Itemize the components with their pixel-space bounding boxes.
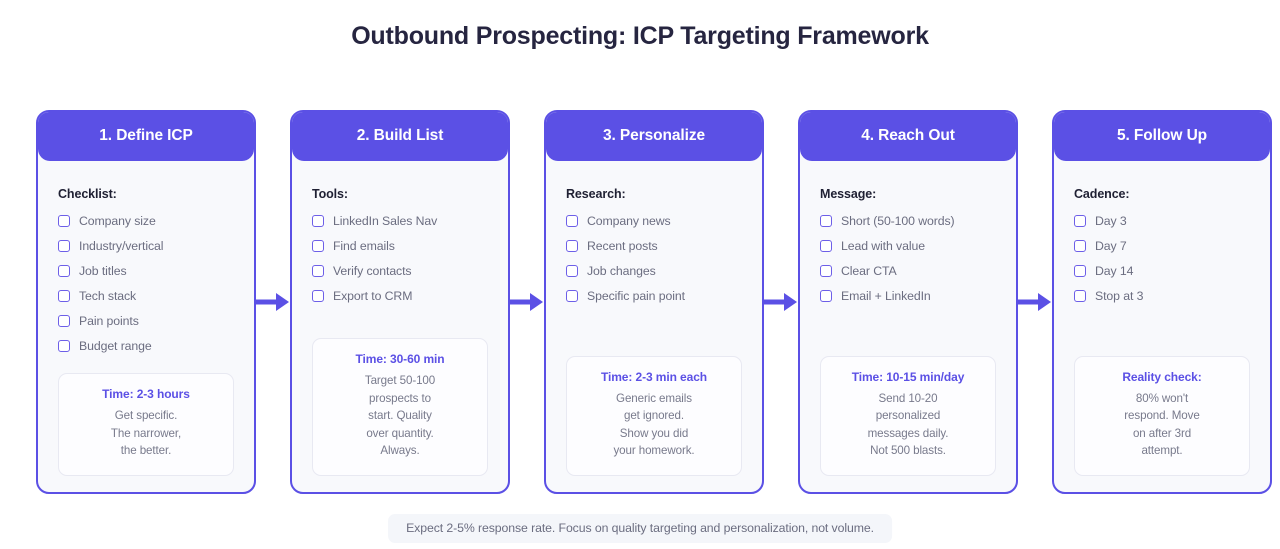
- checklist-item[interactable]: Specific pain point: [566, 289, 742, 303]
- checklist-item[interactable]: Verify contacts: [312, 264, 488, 278]
- checkbox-unchecked-icon[interactable]: [1074, 215, 1086, 227]
- checkbox-unchecked-icon[interactable]: [566, 290, 578, 302]
- checkbox-unchecked-icon[interactable]: [58, 265, 70, 277]
- step-note-line: Not 500 blasts.: [831, 442, 985, 460]
- checklist-item-label: Tech stack: [79, 289, 136, 303]
- checklist: Day 3Day 7Day 14Stop at 3: [1074, 214, 1250, 303]
- checklist-item[interactable]: Company size: [58, 214, 234, 228]
- checklist-item[interactable]: Find emails: [312, 239, 488, 253]
- flow-arrow-4: [1018, 110, 1052, 494]
- checkbox-unchecked-icon[interactable]: [58, 315, 70, 327]
- checklist-item[interactable]: Short (50-100 words): [820, 214, 996, 228]
- checklist: LinkedIn Sales NavFind emailsVerify cont…: [312, 214, 488, 303]
- section-label: Research:: [566, 187, 742, 201]
- checklist-item-label: Pain points: [79, 314, 139, 328]
- step-card-body: Tools:LinkedIn Sales NavFind emailsVerif…: [292, 161, 508, 492]
- checkbox-unchecked-icon[interactable]: [58, 340, 70, 352]
- step-note-line: 80% won't: [1085, 390, 1239, 408]
- step-card-5[interactable]: 5. Follow UpCadence:Day 3Day 7Day 14Stop…: [1052, 110, 1272, 494]
- checkbox-unchecked-icon[interactable]: [566, 215, 578, 227]
- step-note-line: Get specific.: [69, 407, 223, 425]
- section-label: Checklist:: [58, 187, 234, 201]
- checklist-item[interactable]: Job titles: [58, 264, 234, 278]
- step-card-3[interactable]: 3. PersonalizeResearch:Company newsRecen…: [544, 110, 764, 494]
- step-note-line: messages daily.: [831, 425, 985, 443]
- checkbox-unchecked-icon[interactable]: [566, 265, 578, 277]
- checkbox-unchecked-icon[interactable]: [1074, 290, 1086, 302]
- checkbox-unchecked-icon[interactable]: [566, 240, 578, 252]
- checklist-item-label: Short (50-100 words): [841, 214, 955, 228]
- step-card-header: 2. Build List: [292, 112, 508, 161]
- checklist-item-label: Day 3: [1095, 214, 1127, 228]
- checklist-item-label: Day 14: [1095, 264, 1133, 278]
- flow-arrow-3: [764, 110, 798, 494]
- footer-note: Expect 2-5% response rate. Focus on qual…: [388, 514, 892, 543]
- step-note-line: respond. Move: [1085, 407, 1239, 425]
- checkbox-unchecked-icon[interactable]: [1074, 240, 1086, 252]
- step-note-line: get ignored.: [577, 407, 731, 425]
- flow-arrow-2: [510, 110, 544, 494]
- checkbox-unchecked-icon[interactable]: [312, 215, 324, 227]
- step-note-line: the better.: [69, 442, 223, 460]
- step-note-title: Reality check:: [1085, 370, 1239, 384]
- step-note-body: Send 10-20personalizedmessages daily.Not…: [831, 390, 985, 460]
- checklist-item[interactable]: Day 7: [1074, 239, 1250, 253]
- checklist-item-label: Export to CRM: [333, 289, 412, 303]
- arrow-right-icon: [256, 291, 290, 313]
- checkbox-unchecked-icon[interactable]: [1074, 265, 1086, 277]
- step-card-body: Research:Company newsRecent postsJob cha…: [546, 161, 762, 492]
- checkbox-unchecked-icon[interactable]: [312, 265, 324, 277]
- checkbox-unchecked-icon[interactable]: [312, 290, 324, 302]
- step-card-header: 5. Follow Up: [1054, 112, 1270, 161]
- step-note-line: Target 50-100: [323, 372, 477, 390]
- checklist-item-label: Specific pain point: [587, 289, 685, 303]
- checkbox-unchecked-icon[interactable]: [58, 215, 70, 227]
- checkbox-unchecked-icon[interactable]: [820, 240, 832, 252]
- checklist-item[interactable]: Pain points: [58, 314, 234, 328]
- checklist-item[interactable]: Email + LinkedIn: [820, 289, 996, 303]
- step-card-header: 3. Personalize: [546, 112, 762, 161]
- checklist-item-label: Company size: [79, 214, 156, 228]
- step-card-header: 4. Reach Out: [800, 112, 1016, 161]
- step-note-body: Target 50-100prospects tostart. Qualityo…: [323, 372, 477, 460]
- checklist-item[interactable]: Company news: [566, 214, 742, 228]
- checklist-item[interactable]: Industry/vertical: [58, 239, 234, 253]
- step-note-box: Time: 2-3 hoursGet specific.The narrower…: [58, 373, 234, 476]
- checklist-item-label: Stop at 3: [1095, 289, 1143, 303]
- step-note-line: Generic emails: [577, 390, 731, 408]
- step-note-line: on after 3rd: [1085, 425, 1239, 443]
- checklist-item[interactable]: Stop at 3: [1074, 289, 1250, 303]
- step-card-header: 1. Define ICP: [38, 112, 254, 161]
- section-label: Tools:: [312, 187, 488, 201]
- arrow-right-icon: [764, 291, 798, 313]
- checkbox-unchecked-icon[interactable]: [820, 265, 832, 277]
- step-note-box: Time: 2-3 min eachGeneric emailsget igno…: [566, 356, 742, 476]
- checklist-item-label: Email + LinkedIn: [841, 289, 931, 303]
- step-note-box: Time: 30-60 minTarget 50-100prospects to…: [312, 338, 488, 476]
- step-note-body: Get specific.The narrower,the better.: [69, 407, 223, 460]
- step-note-line: start. Quality: [323, 407, 477, 425]
- checkbox-unchecked-icon[interactable]: [58, 240, 70, 252]
- step-note-line: Always.: [323, 442, 477, 460]
- step-card-body: Checklist:Company sizeIndustry/verticalJ…: [38, 161, 254, 492]
- step-note-line: Show you did: [577, 425, 731, 443]
- step-note-title: Time: 2-3 hours: [69, 387, 223, 401]
- checklist-item[interactable]: Job changes: [566, 264, 742, 278]
- step-note-box: Time: 10-15 min/daySend 10-20personalize…: [820, 356, 996, 476]
- checkbox-unchecked-icon[interactable]: [312, 240, 324, 252]
- checklist-item[interactable]: Export to CRM: [312, 289, 488, 303]
- step-note-title: Time: 10-15 min/day: [831, 370, 985, 384]
- checklist-item[interactable]: Recent posts: [566, 239, 742, 253]
- step-note-box: Reality check:80% won'trespond. Moveon a…: [1074, 356, 1250, 476]
- checklist-item[interactable]: Tech stack: [58, 289, 234, 303]
- checklist-item[interactable]: LinkedIn Sales Nav: [312, 214, 488, 228]
- checklist-item-label: Job titles: [79, 264, 127, 278]
- checkbox-unchecked-icon[interactable]: [58, 290, 70, 302]
- step-note-title: Time: 30-60 min: [323, 352, 477, 366]
- step-note-line: personalized: [831, 407, 985, 425]
- section-label: Cadence:: [1074, 187, 1250, 201]
- step-note-body: 80% won'trespond. Moveon after 3rdattemp…: [1085, 390, 1239, 460]
- checklist-item[interactable]: Lead with value: [820, 239, 996, 253]
- step-note-line: your homework.: [577, 442, 731, 460]
- checklist-item-label: LinkedIn Sales Nav: [333, 214, 437, 228]
- checklist-item-label: Find emails: [333, 239, 395, 253]
- checklist-item-label: Industry/vertical: [79, 239, 163, 253]
- section-label: Message:: [820, 187, 996, 201]
- step-note-line: over quantity.: [323, 425, 477, 443]
- checklist-item-label: Job changes: [587, 264, 656, 278]
- checklist-item[interactable]: Day 3: [1074, 214, 1250, 228]
- checklist-item-label: Lead with value: [841, 239, 925, 253]
- checklist-item-label: Day 7: [1095, 239, 1127, 253]
- step-card-1[interactable]: 1. Define ICPChecklist:Company sizeIndus…: [36, 110, 256, 494]
- checklist-item-label: Budget range: [79, 339, 152, 353]
- step-note-title: Time: 2-3 min each: [577, 370, 731, 384]
- step-card-2[interactable]: 2. Build ListTools:LinkedIn Sales NavFin…: [290, 110, 510, 494]
- arrow-right-icon: [1018, 291, 1052, 313]
- checklist-item-label: Company news: [587, 214, 671, 228]
- checkbox-unchecked-icon[interactable]: [820, 215, 832, 227]
- checkbox-unchecked-icon[interactable]: [820, 290, 832, 302]
- checklist-item[interactable]: Day 14: [1074, 264, 1250, 278]
- flow-arrow-1: [256, 110, 290, 494]
- step-note-line: attempt.: [1085, 442, 1239, 460]
- checklist-item[interactable]: Clear CTA: [820, 264, 996, 278]
- step-note-line: prospects to: [323, 390, 477, 408]
- checklist-item-label: Recent posts: [587, 239, 658, 253]
- checklist: Short (50-100 words)Lead with valueClear…: [820, 214, 996, 303]
- step-note-line: Send 10-20: [831, 390, 985, 408]
- page-title: Outbound Prospecting: ICP Targeting Fram…: [0, 22, 1280, 51]
- checklist-item[interactable]: Budget range: [58, 339, 234, 353]
- checklist: Company sizeIndustry/verticalJob titlesT…: [58, 214, 234, 353]
- step-note-body: Generic emailsget ignored.Show you didyo…: [577, 390, 731, 460]
- arrow-right-icon: [510, 291, 544, 313]
- diagram-page: Outbound Prospecting: ICP Targeting Fram…: [0, 0, 1280, 549]
- process-flow: 1. Define ICPChecklist:Company sizeIndus…: [36, 110, 1244, 494]
- step-card-body: Message:Short (50-100 words)Lead with va…: [800, 161, 1016, 492]
- checklist-item-label: Clear CTA: [841, 264, 897, 278]
- step-card-4[interactable]: 4. Reach OutMessage:Short (50-100 words)…: [798, 110, 1018, 494]
- checklist: Company newsRecent postsJob changesSpeci…: [566, 214, 742, 303]
- step-card-body: Cadence:Day 3Day 7Day 14Stop at 3Reality…: [1054, 161, 1270, 492]
- checklist-item-label: Verify contacts: [333, 264, 411, 278]
- step-note-line: The narrower,: [69, 425, 223, 443]
